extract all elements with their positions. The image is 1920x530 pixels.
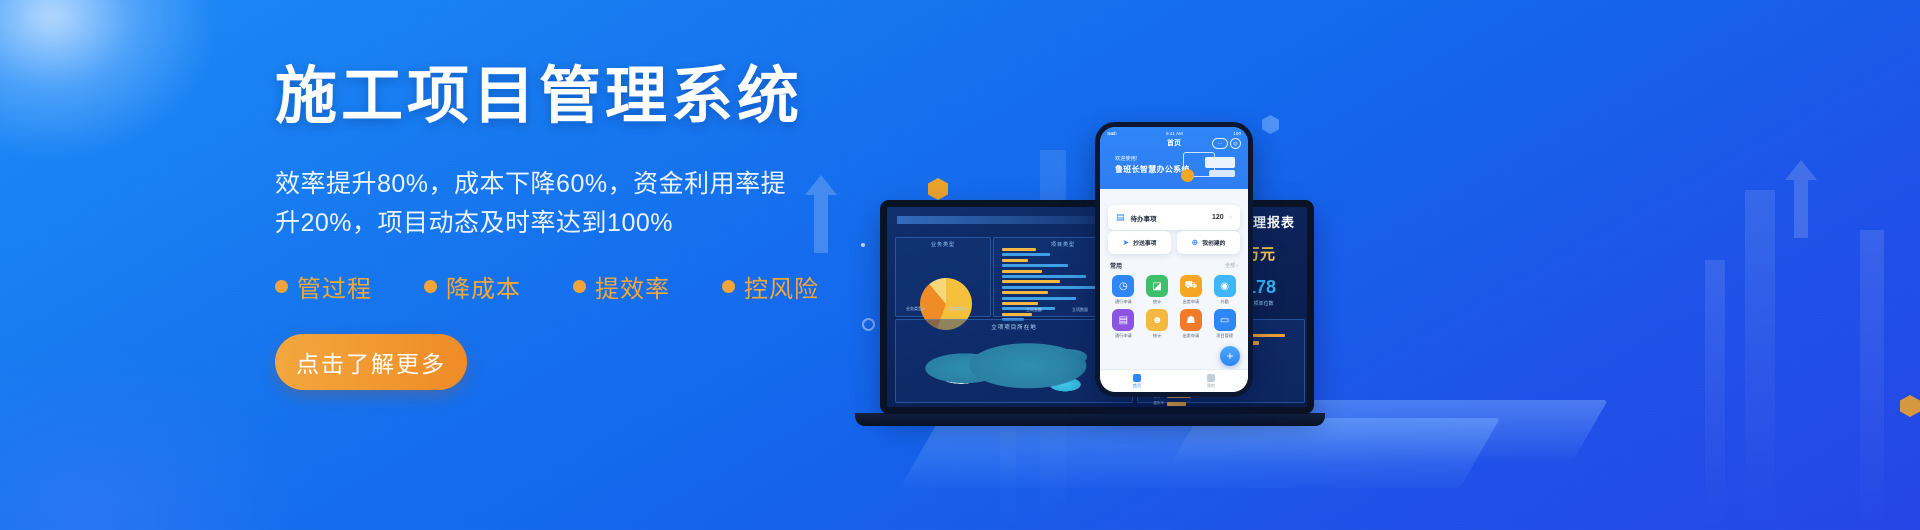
apps-section-header: 常用 全部 ›: [1110, 261, 1238, 270]
welcome-illustration: [1181, 150, 1235, 182]
page-title: 施工项目管理系统: [275, 62, 915, 131]
learn-more-button[interactable]: 点击了解更多: [275, 334, 467, 390]
more-icon[interactable]: ···: [1212, 138, 1228, 149]
china-map: [920, 336, 1106, 398]
bars-legend-b: 立项数量: [1072, 307, 1088, 313]
bullet-dot-icon: [275, 280, 288, 293]
quick-action-label: 我创建的: [1202, 238, 1225, 247]
clock-illustration-icon: [1181, 169, 1194, 182]
person-icon: ☻: [1146, 309, 1168, 331]
feature-bullet-label: 控风险: [744, 269, 819, 304]
feature-bullet-2: 降成本: [424, 269, 521, 304]
phone-header: Search 9:41 AM 100 首页 ··· ◎ 欢迎使用! 鲁班长智慧办…: [1100, 127, 1248, 189]
device-mockups: 市场管理报表 业务类型 业务类型A 业务类型B 项目类型: [860, 0, 1920, 530]
add-fab-button[interactable]: +: [1220, 346, 1240, 366]
app-label: 出差申请: [1182, 299, 1199, 305]
car-icon: ⛟: [1180, 275, 1202, 297]
app-label: 项目管理: [1216, 333, 1233, 339]
target-icon[interactable]: ◎: [1230, 138, 1241, 149]
promo-banner: 施工项目管理系统 效率提升80%，成本下降60%，资金利用率提升20%，项目动态…: [0, 0, 1920, 530]
ranking-city: 长沙市: [1144, 409, 1164, 414]
pie-legend-b: 业务类型B: [948, 306, 967, 312]
tab-label: 首页: [1133, 383, 1141, 389]
chart-icon: ◪: [1146, 275, 1168, 297]
app-item[interactable]: ◷ 通行申请: [1108, 275, 1139, 305]
phone-tabbar: 首页 我的: [1100, 369, 1248, 392]
pie-panel: 业务类型 业务类型A 业务类型B: [895, 237, 991, 317]
app-item[interactable]: ◉ 外勤: [1209, 275, 1240, 305]
pie-legend-a: 业务类型A: [906, 306, 925, 312]
app-grid: ◷ 通行申请 ◪ 统计 ⛟ 出差申请 ◉ 外勤: [1108, 275, 1240, 339]
tab-label: 我的: [1207, 383, 1215, 389]
todo-card[interactable]: ▤ 待办事项 120 ›: [1108, 205, 1240, 230]
feature-bullet-4: 控风险: [722, 269, 819, 304]
phone-mockup: Search 9:41 AM 100 首页 ··· ◎ 欢迎使用! 鲁班长智慧办…: [1095, 122, 1253, 397]
bottom-left-glow: [0, 350, 300, 530]
app-label: 通行申请: [1115, 333, 1132, 339]
todo-label: 待办事项: [1131, 213, 1206, 223]
phone-navbar: 首页 ··· ◎: [1107, 136, 1241, 150]
app-item[interactable]: ☗ 出差申请: [1176, 309, 1207, 339]
phone-screen: Search 9:41 AM 100 首页 ··· ◎ 欢迎使用! 鲁班长智慧办…: [1100, 127, 1248, 392]
document-clock-icon: ▤: [1116, 212, 1125, 223]
feature-bullet-3: 提效率: [573, 269, 670, 304]
app-label: 出差申请: [1182, 333, 1199, 339]
ranking-row: 长沙市: [1144, 409, 1298, 414]
banner-copy: 施工项目管理系统 效率提升80%，成本下降60%，资金利用率提升20%，项目动态…: [275, 62, 915, 390]
bullet-dot-icon: [573, 280, 586, 293]
app-item[interactable]: ☻ 统计: [1142, 309, 1173, 339]
todo-count: 120: [1212, 214, 1224, 221]
folder-icon: ▭: [1214, 309, 1236, 331]
tab-home[interactable]: 首页: [1100, 370, 1174, 392]
feature-bullets: 管过程 降成本 提效率 控风险: [275, 269, 915, 304]
app-label: 通行申请: [1115, 299, 1132, 305]
app-item[interactable]: ▭ 项目管理: [1209, 309, 1240, 339]
feature-bullet-label: 提效率: [595, 269, 670, 304]
bullet-dot-icon: [424, 280, 437, 293]
feature-bullet-label: 降成本: [446, 269, 521, 304]
app-item[interactable]: ◪ 统计: [1142, 275, 1173, 305]
card-illustration-icon: [1209, 170, 1235, 177]
location-pin-icon: ◉: [1214, 275, 1236, 297]
tab-mine[interactable]: 我的: [1174, 370, 1248, 392]
home-icon: [1133, 374, 1141, 382]
phone-nav-title: 首页: [1167, 138, 1181, 148]
apps-section-more[interactable]: 全部 ›: [1225, 262, 1238, 269]
banner-subtitle: 效率提升80%，成本下降60%，资金利用率提升20%，项目动态及时率达到100%: [275, 165, 795, 243]
phone-nav-actions: ··· ◎: [1212, 138, 1241, 149]
dashboard-header-accent: [897, 216, 1127, 224]
quick-actions: ➤ 抄送事项 ⊕ 我创建的: [1108, 231, 1240, 254]
phone-welcome: 欢迎使用! 鲁班长智慧办公系统: [1107, 150, 1241, 189]
apps-section-title: 常用: [1110, 261, 1122, 270]
app-label: 外勤: [1220, 299, 1228, 305]
user-icon: ☗: [1180, 309, 1202, 331]
pie-panel-caption: 业务类型: [896, 241, 990, 248]
chevron-right-icon: ›: [1230, 214, 1232, 221]
card-illustration-icon: [1205, 157, 1235, 168]
feature-bullet-label: 管过程: [297, 269, 372, 304]
bars-legend-a: 立项金额: [1026, 307, 1042, 313]
app-item[interactable]: ▤ 通行申请: [1108, 309, 1139, 339]
feature-bullet-1: 管过程: [275, 269, 372, 304]
send-icon: ➤: [1123, 238, 1130, 247]
laptop-base: [855, 413, 1325, 426]
ranking-city: 重庆市: [1144, 401, 1164, 406]
app-label: 统计: [1153, 333, 1161, 339]
plus-doc-icon: ⊕: [1192, 238, 1199, 247]
ranking-row: 重庆市: [1144, 401, 1298, 406]
user-icon: [1207, 374, 1215, 382]
clock-icon: ◷: [1112, 275, 1134, 297]
app-item[interactable]: ⛟ 出差申请: [1176, 275, 1207, 305]
quick-action-cc[interactable]: ➤ 抄送事项: [1108, 231, 1171, 254]
quick-action-label: 抄送事项: [1133, 238, 1156, 247]
bullet-dot-icon: [722, 280, 735, 293]
quick-action-created[interactable]: ⊕ 我创建的: [1177, 231, 1240, 254]
document-icon: ▤: [1112, 309, 1134, 331]
app-label: 统计: [1153, 299, 1161, 305]
top-left-glow: [0, 0, 220, 160]
